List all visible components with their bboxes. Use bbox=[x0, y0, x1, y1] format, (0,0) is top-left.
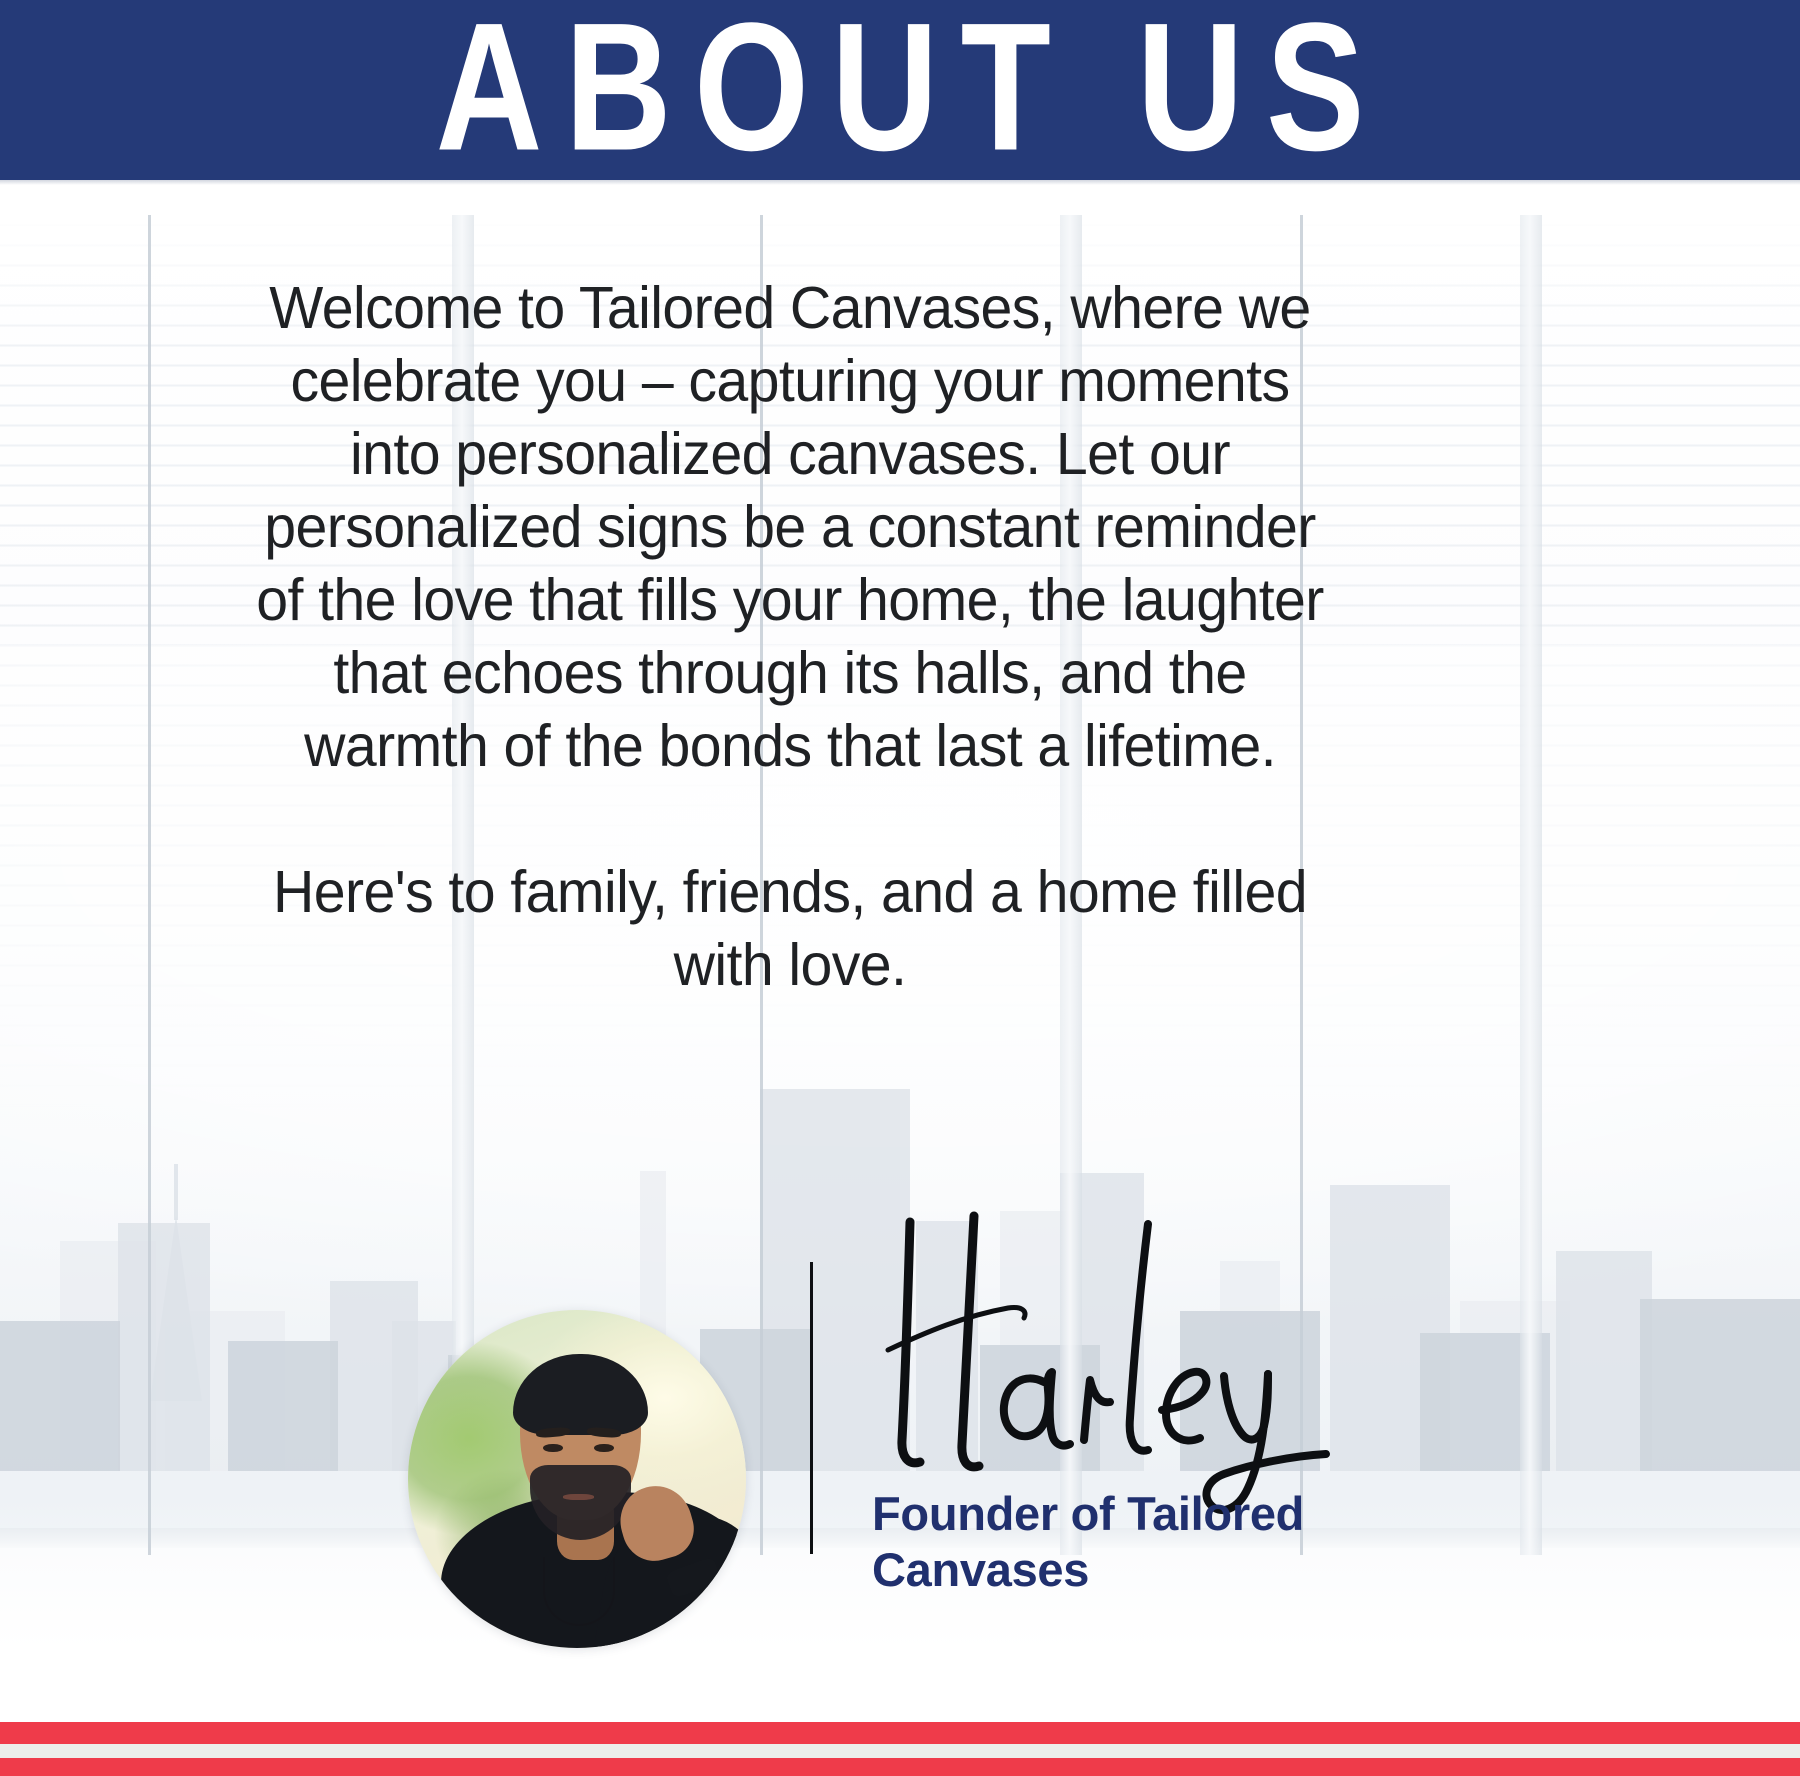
about-paragraph-1: Welcome to Tailored Canvases, where we c… bbox=[242, 272, 1338, 783]
about-us-card: ABOUT US Welcome to Tailored Canvases, w… bbox=[0, 0, 1800, 1776]
founder-signature bbox=[848, 1204, 1388, 1504]
founder-role-line-1: Founder of Tailored bbox=[872, 1486, 1432, 1542]
header-banner: ABOUT US bbox=[0, 0, 1800, 180]
avatar bbox=[408, 1310, 746, 1648]
footer-stripe-gap bbox=[0, 1744, 1800, 1758]
signature-block: Founder of Tailored Canvases bbox=[0, 1150, 1800, 1710]
founder-role: Founder of Tailored Canvases bbox=[872, 1486, 1432, 1598]
footer-stripe-bottom bbox=[0, 1758, 1800, 1776]
page-title: ABOUT US bbox=[413, 0, 1387, 178]
footer-stripe-top bbox=[0, 1722, 1800, 1744]
avatar-photo bbox=[408, 1310, 746, 1648]
about-paragraph-2: Here's to family, friends, and a home fi… bbox=[242, 856, 1338, 1002]
founder-role-line-2: Canvases bbox=[872, 1542, 1432, 1598]
header-underline bbox=[0, 180, 1800, 185]
about-copy: Welcome to Tailored Canvases, where we c… bbox=[242, 272, 1338, 1002]
signature-divider bbox=[810, 1262, 813, 1554]
